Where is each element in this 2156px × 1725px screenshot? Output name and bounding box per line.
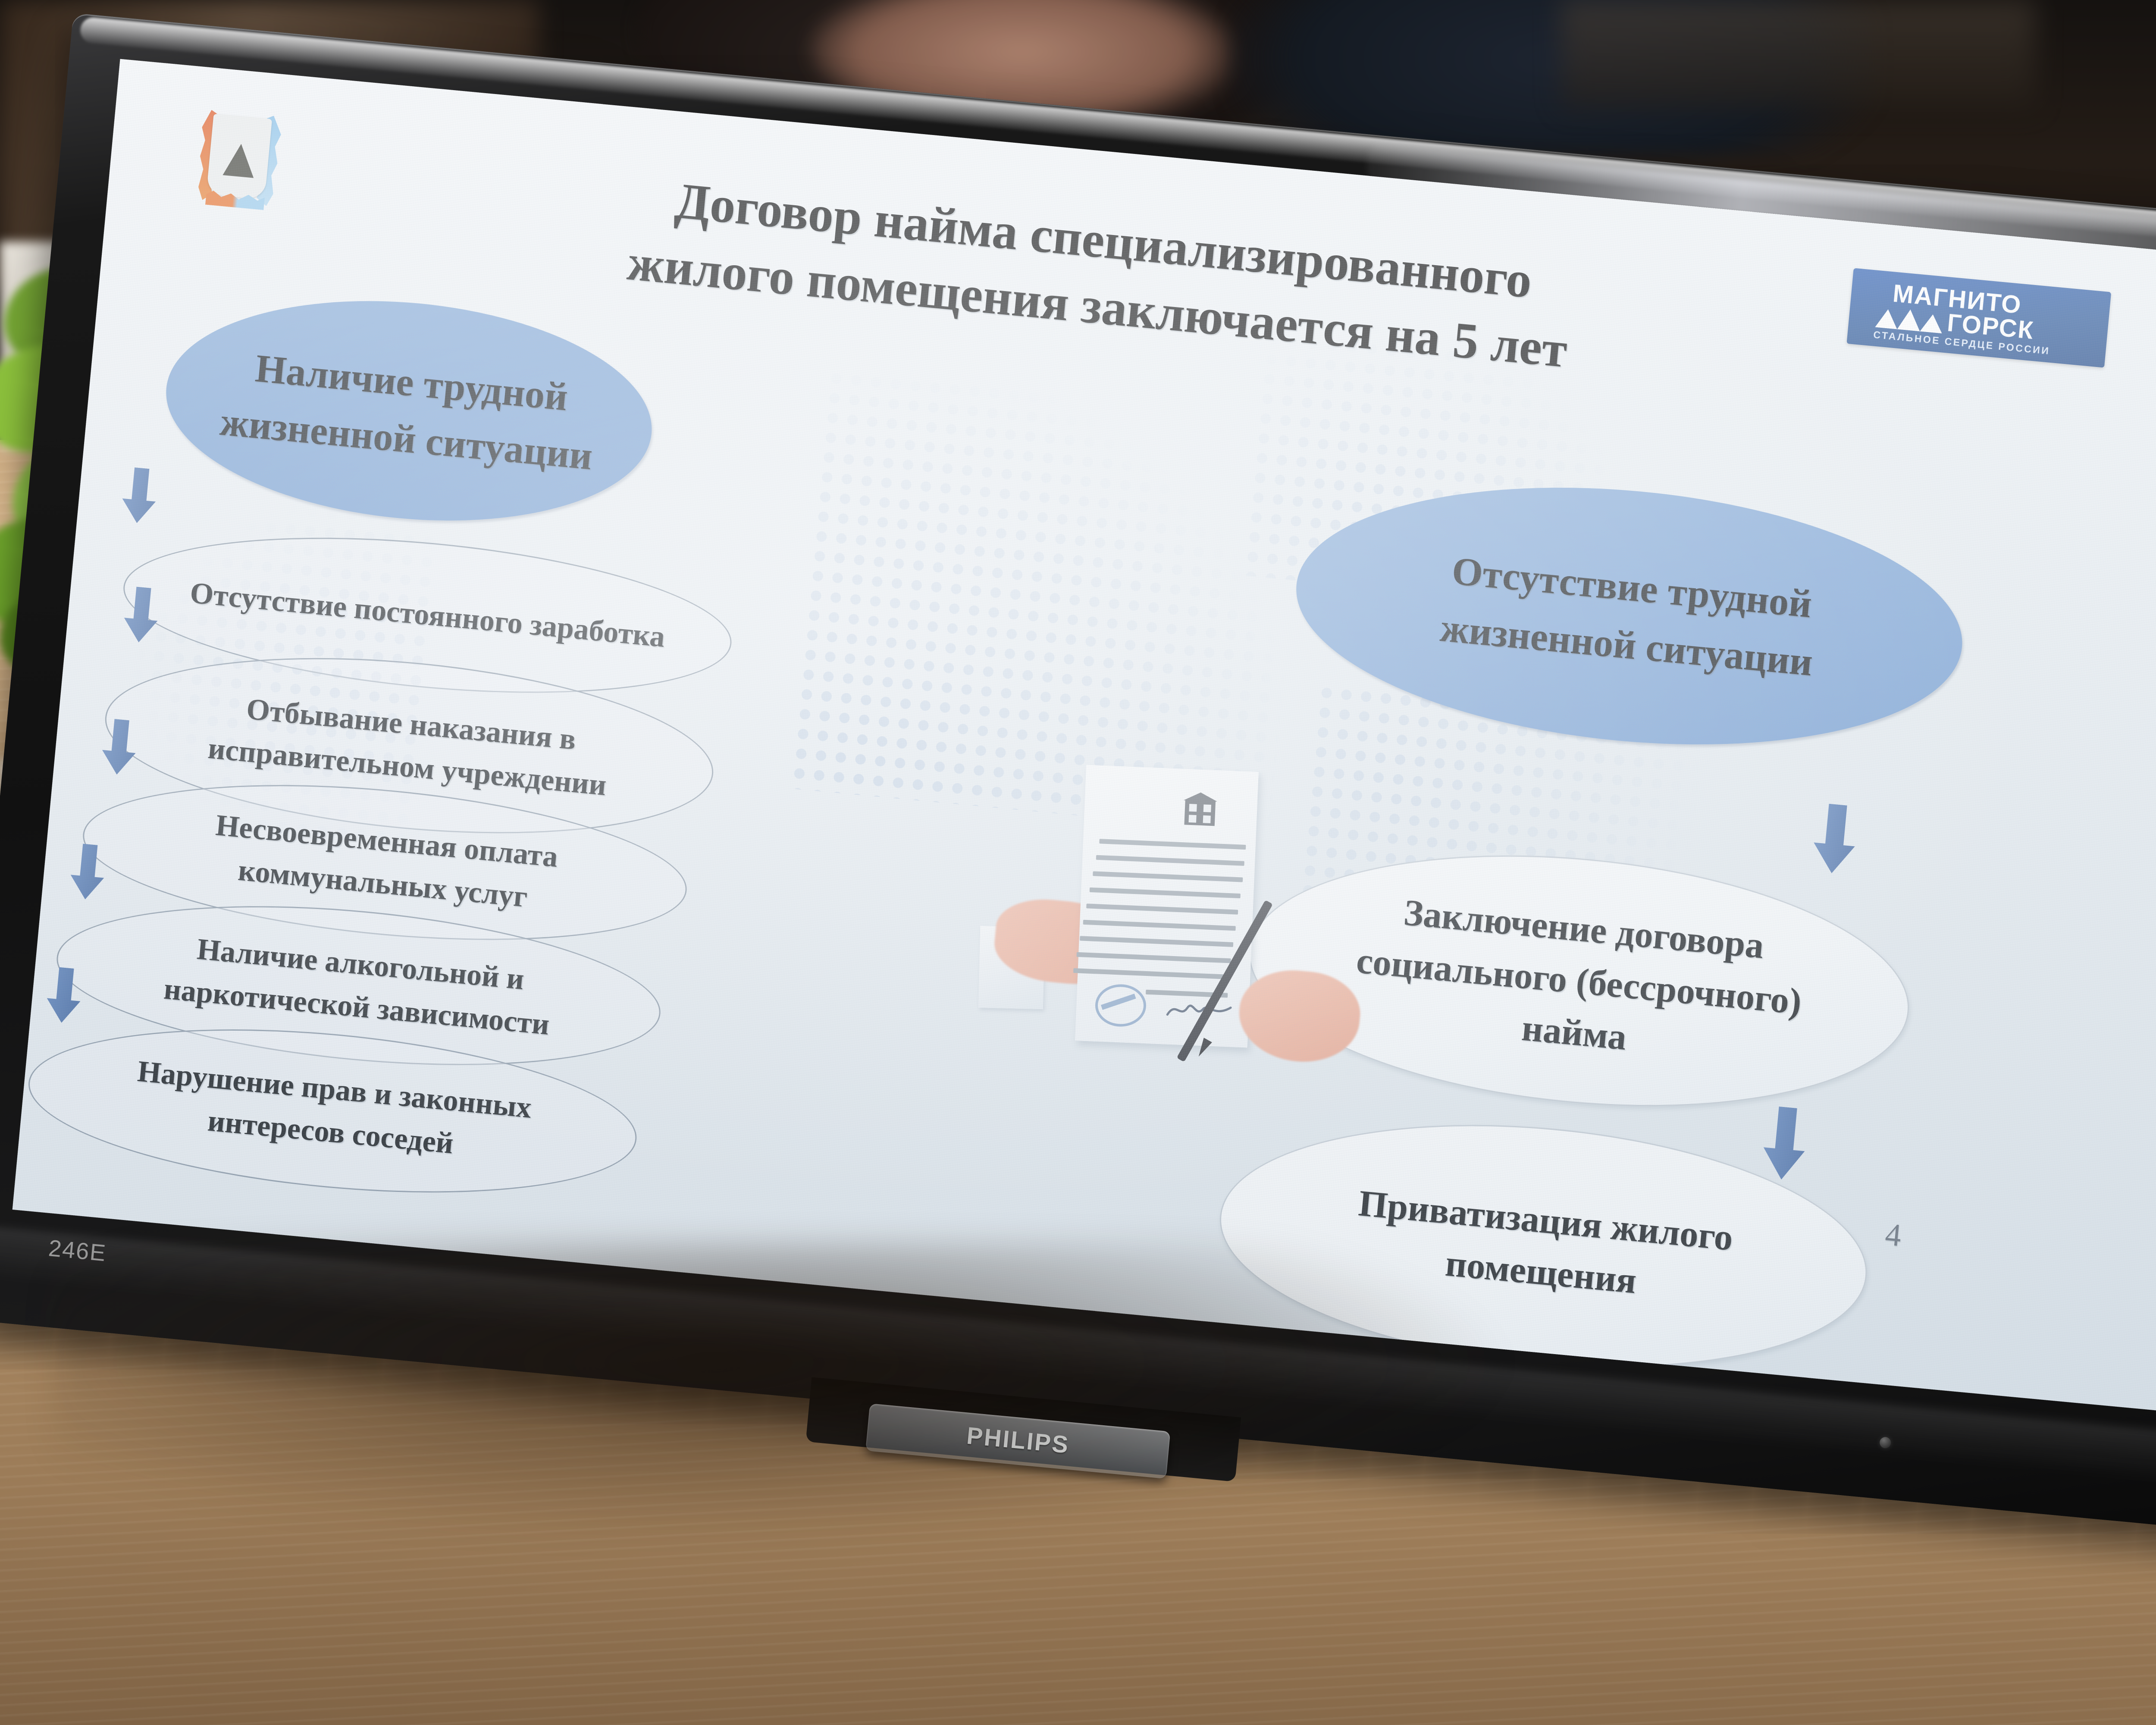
ceiling-light-blur	[1561, 0, 2035, 108]
screen-glare	[13, 59, 2156, 1413]
monitor-screen: МАГНИТО ГОРСК СТАЛЬНОЕ СЕРДЦЕ РОССИИ Дог…	[13, 59, 2156, 1413]
photo-scene: МАГНИТО ГОРСК СТАЛЬНОЕ СЕРДЦЕ РОССИИ Дог…	[0, 0, 2156, 1725]
monitor-shadow	[52, 1242, 1518, 1544]
